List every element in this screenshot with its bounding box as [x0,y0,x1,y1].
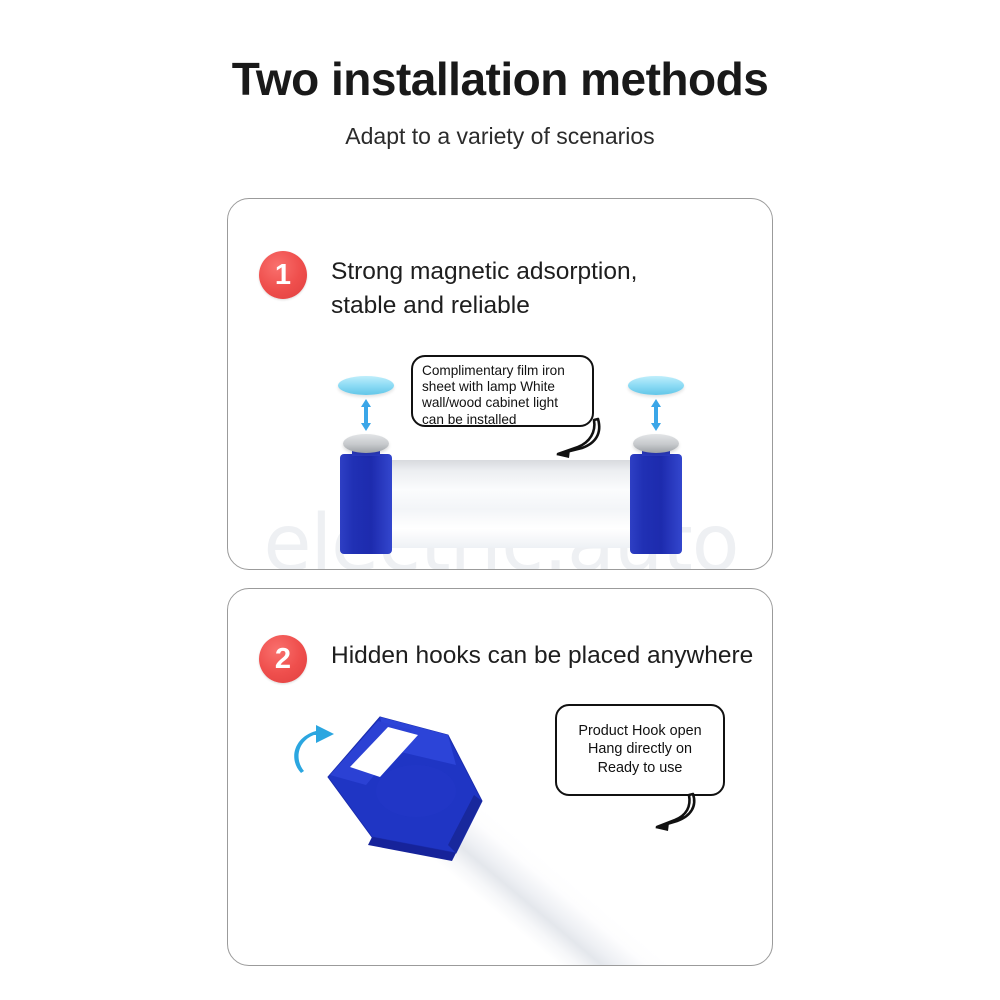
lamp-end-cap-left [340,454,392,554]
iron-sheet-disc-right [628,376,684,395]
page-header: Two installation methods Adapt to a vari… [0,0,1000,150]
card-1-heading-row: 1 Strong magnetic adsorption, stable and… [259,251,637,323]
lamp-illustration [316,454,706,554]
callout-bubble-2-tail [653,792,705,832]
page-subtitle: Adapt to a variety of scenarios [0,105,1000,150]
rotate-arrow-icon [290,725,344,777]
magnet-disc-right [633,434,679,453]
step-number-badge-1: 1 [259,251,307,299]
callout-bubble-2: Product Hook open Hang directly on Ready… [555,704,725,796]
installation-method-card-1: electric.auto 1 Strong magnetic adsorpti… [227,198,773,570]
installation-method-card-2: 2 Hidden hooks can be placed anywhere Pr… [227,588,773,966]
card-1-title: Strong magnetic adsorption, stable and r… [331,251,637,323]
page-title: Two installation methods [0,0,1000,105]
magnet-disc-left [343,434,389,453]
callout-bubble-1-tail [552,417,608,459]
up-down-arrow-icon-right [649,398,663,432]
up-down-arrow-icon-left [359,398,373,432]
lamp-tube-body [358,460,664,548]
iron-sheet-disc-left [338,376,394,395]
lamp-end-cap-right [630,454,682,554]
callout-bubble-2-text: Product Hook open Hang directly on Ready… [567,722,713,777]
